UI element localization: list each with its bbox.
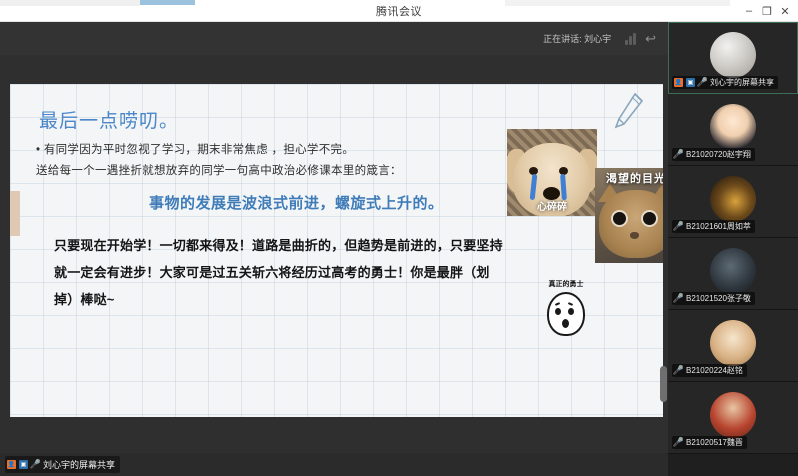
speaking-status-bar: 正在讲话: 刘心宇 ↩ — [0, 22, 668, 55]
participant-tile-0[interactable]: 👤 ▣ 🎤 刘心宇的屏幕共享 — [668, 22, 798, 94]
participant-name-badge: 🎤 B21020224赵铭 — [672, 364, 747, 377]
microphone-icon: 🎤 — [698, 78, 707, 87]
participant-tile-1[interactable]: 🎤 B21020720赵宇翔 — [668, 94, 798, 166]
slide-title: 最后一点唠叨。 — [39, 106, 179, 133]
microphone-muted-icon: 🎤 — [674, 438, 683, 447]
participant-name: B21020517魏晋 — [686, 437, 743, 448]
microphone-muted-icon: 🎤 — [674, 366, 683, 375]
participant-name: B21021520张子敬 — [686, 293, 751, 304]
avatar — [710, 392, 756, 438]
screen-icon: ▣ — [19, 460, 28, 469]
participant-tile-5[interactable]: 🎤 B21020517魏晋 — [668, 382, 798, 454]
participant-tile-2[interactable]: 🎤 B21021601周如萃 — [668, 166, 798, 238]
participant-name-badge: 🎤 B21021601周如萃 — [672, 220, 755, 233]
screen-share-badge: 👤 ▣ 🎤 刘心宇的屏幕共享 — [5, 456, 120, 473]
meeting-body: 正在讲话: 刘心宇 ↩ 最后一点唠叨。 • 有同学因为平时忽视了学习，期末非常焦… — [0, 22, 798, 476]
avatar — [710, 176, 756, 222]
close-icon[interactable]: ✕ — [776, 1, 794, 21]
window-title: 腾讯会议 — [376, 3, 422, 19]
participant-name: B21020720赵宇翔 — [686, 149, 751, 160]
avatar — [710, 248, 756, 294]
participant-tile-4[interactable]: 🎤 B21020224赵铭 — [668, 310, 798, 382]
share-scroll-handle[interactable] — [660, 366, 667, 402]
avatar — [710, 104, 756, 150]
participant-name: 刘心宇的屏幕共享 — [710, 77, 774, 88]
cat-caption: 渴望的目光 — [595, 170, 663, 186]
signal-strength-icon — [625, 33, 636, 45]
slide-decor-left-tab — [10, 191, 20, 236]
titlebar-decor-left — [0, 0, 140, 6]
avatar — [710, 320, 756, 366]
crying-dog-caption: 心碎碎 — [507, 198, 597, 213]
speaking-label: 正在讲话: 刘心宇 — [543, 32, 611, 45]
sticker-caption: 真正的勇士 — [537, 279, 595, 289]
slide-blue-quote: 事物的发展是波浪式前进，螺旋式上升的。 — [149, 192, 444, 213]
slide-body-text: 只要现在开始学！一切都来得及！道路是曲折的，但趋势是前进的，只要坚持就一定会有进… — [54, 232, 504, 313]
screen-share-badge-label: 刘心宇的屏幕共享 — [43, 458, 115, 471]
avatar — [710, 32, 756, 78]
share-icon: 👤 — [674, 78, 683, 87]
titlebar-decor-right — [505, 0, 730, 6]
window-titlebar: 腾讯会议 – ❐ ✕ — [0, 0, 798, 22]
window-controls[interactable]: – ❐ ✕ — [740, 0, 794, 22]
screen-icon: ▣ — [686, 78, 695, 87]
participant-name-badge: 👤 ▣ 🎤 刘心宇的屏幕共享 — [672, 76, 778, 89]
shared-screen-frame[interactable]: 最后一点唠叨。 • 有同学因为平时忽视了学习，期末非常焦虑 ，担心学不完。 送给… — [0, 55, 668, 453]
share-icon: 👤 — [7, 460, 16, 469]
participant-name-badge: 🎤 B21020517魏晋 — [672, 436, 747, 449]
minimize-icon[interactable]: – — [740, 1, 758, 21]
participant-tile-3[interactable]: 🎤 B21021520张子敬 — [668, 238, 798, 310]
presentation-slide: 最后一点唠叨。 • 有同学因为平时忽视了学习，期末非常焦虑 ，担心学不完。 送给… — [10, 84, 663, 417]
participant-rail[interactable]: 👤 ▣ 🎤 刘心宇的屏幕共享 🎤 B21020720赵宇翔 🎤 B2102160… — [668, 22, 798, 476]
pencil-icon — [613, 92, 645, 130]
microphone-muted-icon: 🎤 — [674, 294, 683, 303]
return-arrow-icon[interactable]: ↩ — [645, 32, 656, 45]
titlebar-decor-tab — [140, 0, 195, 5]
participant-name: B21020224赵铭 — [686, 365, 743, 376]
bottom-status-bar: 👤 ▣ 🎤 刘心宇的屏幕共享 — [0, 453, 668, 476]
slide-bullet-text: • 有同学因为平时忽视了学习，期末非常焦虑 ，担心学不完。 送给每一个一遇挫折就… — [36, 140, 526, 182]
participant-name-badge: 🎤 B21021520张子敬 — [672, 292, 755, 305]
participant-name: B21021601周如萃 — [686, 221, 751, 232]
participant-name-badge: 🎤 B21020720赵宇翔 — [672, 148, 755, 161]
brave-warrior-sticker: 真正的勇士 — [537, 279, 595, 341]
microphone-muted-icon: 🎤 — [674, 150, 683, 159]
microphone-muted-icon: 🎤 — [674, 222, 683, 231]
maximize-icon[interactable]: ❐ — [758, 1, 776, 21]
microphone-icon: 🎤 — [31, 460, 40, 469]
